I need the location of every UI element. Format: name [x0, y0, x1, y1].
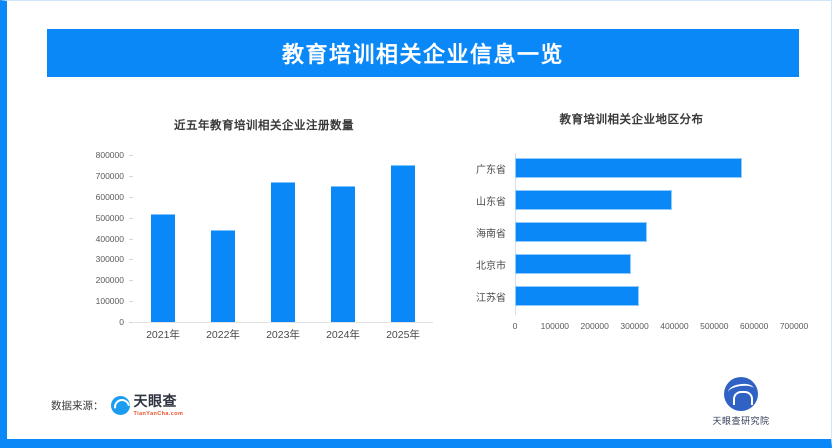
- x-axis-tick-label: 200000: [581, 321, 609, 331]
- infographic-poster: 教育培训相关企业信息一览 近五年教育培训相关企业注册数量 80000070000…: [0, 0, 832, 448]
- bar-track: [515, 157, 804, 179]
- bar-广东省[interactable]: [515, 158, 742, 178]
- category-label-广东省: 广东省: [459, 161, 515, 176]
- chart-panel-region-distribution: 教育培训相关企业地区分布 广东省山东省海南省北京市江苏省 01000002000…: [459, 97, 804, 367]
- y-axis-tick: [129, 301, 133, 302]
- y-axis-tick: [129, 239, 133, 240]
- bar-海南省[interactable]: [515, 222, 647, 242]
- y-axis-tick: [129, 155, 133, 156]
- category-label-山东省: 山东省: [459, 193, 515, 208]
- y-axis-tick-label: 300000: [96, 254, 124, 264]
- y-axis-tick: [129, 197, 133, 198]
- y-axis-labels: 8000007000006000005000004000003000002000…: [73, 155, 129, 322]
- x-axis-tick-label: 0: [513, 321, 518, 331]
- bar-slot: [253, 155, 313, 322]
- x-axis-tick-label: 2025年: [373, 327, 433, 342]
- bar-北京市[interactable]: [515, 254, 631, 274]
- x-axis-tick-label: 100000: [541, 321, 569, 331]
- x-axis-tick-label: 400000: [660, 321, 688, 331]
- bar-track: [515, 221, 804, 243]
- bar-2024年[interactable]: [331, 186, 355, 322]
- bar-2021年[interactable]: [151, 214, 175, 323]
- y-axis-tick: [129, 259, 133, 260]
- x-axis-tick-label: 2023年: [253, 327, 313, 342]
- bar-track: [515, 285, 804, 307]
- bar-row: 海南省: [459, 221, 804, 243]
- data-source: 数据来源： 天眼查 TianYanCha.com: [51, 394, 183, 418]
- bar-slot: [313, 155, 373, 322]
- x-axis-tick-label: 700000: [780, 321, 808, 331]
- bar-row: 广东省: [459, 157, 804, 179]
- y-axis-tick-label: 700000: [96, 171, 124, 181]
- y-axis-tick-label: 400000: [96, 234, 124, 244]
- category-label-北京市: 北京市: [459, 257, 515, 272]
- x-axis-tick-label: 300000: [620, 321, 648, 331]
- bar-track: [515, 253, 804, 275]
- vertical-bar-chart: 8000007000006000005000004000003000002000…: [73, 155, 443, 355]
- bar-2022年[interactable]: [211, 230, 235, 322]
- category-label-海南省: 海南省: [459, 225, 515, 240]
- y-axis-tick: [129, 176, 133, 177]
- bar-row: 北京市: [459, 253, 804, 275]
- y-axis-tick-label: 0: [119, 317, 124, 327]
- x-axis-tick-label: 2024年: [313, 327, 373, 342]
- bar-row: 山东省: [459, 189, 804, 211]
- horizontal-bar-chart: 广东省山东省海南省北京市江苏省 010000020000030000040000…: [459, 151, 804, 351]
- chart-panel-registrations: 近五年教育培训相关企业注册数量 800000700000600000500000…: [65, 97, 453, 367]
- chart-title-region-distribution: 教育培训相关企业地区分布: [459, 97, 804, 127]
- y-axis-tick-label: 200000: [96, 275, 124, 285]
- publisher-brand: 天眼查研究院: [695, 377, 787, 427]
- bar-track: [515, 189, 804, 211]
- publisher-name: 天眼查研究院: [712, 414, 769, 427]
- bar-2025年[interactable]: [391, 165, 415, 322]
- tianyancha-domain: TianYanCha.com: [134, 412, 184, 418]
- y-axis-tick: [129, 218, 133, 219]
- page-title: 教育培训相关企业信息一览: [282, 37, 564, 69]
- category-label-江苏省: 江苏省: [459, 289, 515, 304]
- chart-title-registrations: 近五年教育培训相关企业注册数量: [65, 97, 453, 133]
- header-banner: 教育培训相关企业信息一览: [47, 29, 799, 77]
- y-axis-tick-label: 800000: [96, 150, 124, 160]
- bar-slot: [373, 155, 433, 322]
- vertical-bars-plot-area: [133, 155, 433, 323]
- bar-slot: [133, 155, 193, 322]
- bar-江苏省[interactable]: [515, 286, 639, 306]
- y-axis-tick-label: 500000: [96, 213, 124, 223]
- tianyancha-logo-icon: [111, 396, 130, 415]
- x-axis-tick-label: 500000: [700, 321, 728, 331]
- x-axis-tick-label: 2022年: [193, 327, 253, 342]
- x-axis-tick-label: 2021年: [133, 327, 193, 342]
- bar-山东省[interactable]: [515, 190, 672, 210]
- x-axis-labels: 2021年2022年2023年2024年2025年: [133, 327, 433, 342]
- bar-2023年[interactable]: [271, 182, 295, 322]
- tianyancha-logo: 天眼查 TianYanCha.com: [111, 394, 184, 418]
- bar-slot: [193, 155, 253, 322]
- y-axis-tick: [129, 322, 133, 323]
- bar-row: 江苏省: [459, 285, 804, 307]
- y-axis-tick: [129, 280, 133, 281]
- arch-logo-icon: [724, 377, 758, 411]
- x-axis-tick-label: 600000: [740, 321, 768, 331]
- tianyancha-wordmark: 天眼查: [134, 393, 178, 409]
- y-axis-tick-label: 600000: [96, 192, 124, 202]
- y-axis-tick-label: 100000: [96, 296, 124, 306]
- x-axis-labels: 0100000200000300000400000500000600000700…: [515, 321, 794, 335]
- data-source-label: 数据来源：: [51, 398, 104, 413]
